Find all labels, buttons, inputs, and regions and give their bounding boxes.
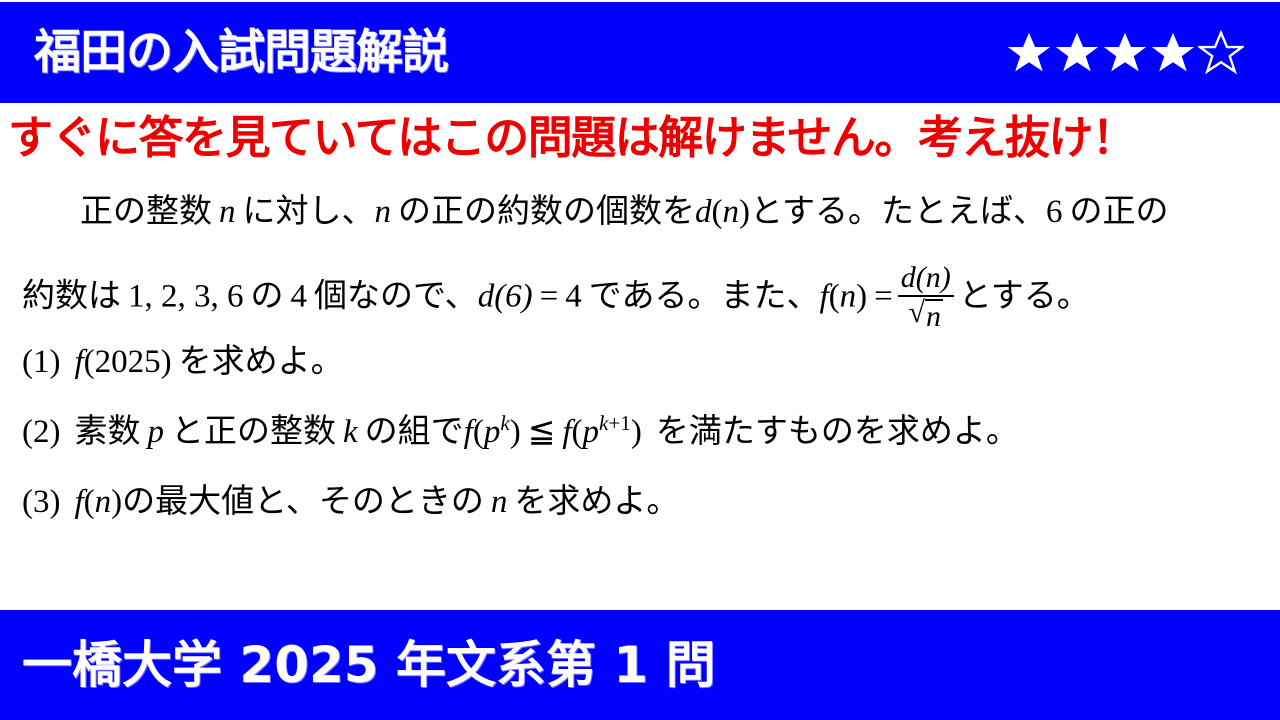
line1-seg-b: に対し、 [243,191,375,230]
line1-seg-a: 正の整数 [80,191,212,230]
q3-seg-a: の最大値と、そのときの [122,481,484,520]
line2-f-paren-close: ) [856,279,867,315]
question-2: (2)素数pと正の整数kの組でf(pk)≦f(pk+1)を満たすものを求めよ。 [22,414,1019,449]
q1-number: (1) [22,344,60,380]
line1-seg-d: とする。たとえば、 [750,191,1046,230]
footer-bar: 一橋大学 2025 年文系第 1 問 [0,610,1280,720]
star-filled-icon [1102,30,1148,76]
star-empty-icon [1198,30,1244,76]
line1-paren-close: ) [739,194,750,230]
q2-seg-c: の組で [365,411,464,450]
square-root: √n [909,298,943,333]
radicand: n [925,299,943,333]
question-3: (3)f(n)の最大値と、そのときのnを求めよ。 [22,484,679,519]
line1-paren-open: ( [712,194,723,230]
exam-source-title: 一橋大学 2025 年文系第 1 問 [22,640,716,690]
line1-var-n-second: n [375,194,392,230]
warning-band: すぐに答を見ていてはこの問題は解けません。考え抜け！ [0,106,1280,168]
q2-relation: ≦ [528,414,556,450]
line1-seg-e: の正の [1070,191,1169,230]
problem-statement: 正の整数nに対し、nの正の約数の個数をd(n)とする。たとえば、6の正の 約数は… [0,186,1280,606]
radical-sign: √ [909,298,925,333]
q2-rhs-exponent-plus: +1 [608,411,630,435]
q1-function-f: f [74,344,83,380]
line2-seg-d: である。また、 [589,276,820,315]
q1-argument: (2025) [84,344,172,380]
q2-number: (2) [22,414,60,450]
line2-number-4: 4 [291,279,308,315]
q3-paren-open: ( [84,484,95,520]
q2-lhs-exponent: k [500,411,509,435]
line1-arg-n: n [723,194,740,230]
q2-tail: を満たすものを求めよ。 [656,411,1019,450]
line1-number-6: 6 [1046,194,1063,230]
line2-seg-c: 個なので、 [314,276,478,315]
q2-rhs-paren-open: ( [572,414,583,450]
q3-paren-close: ) [111,484,122,520]
q3-tail: を求めよ。 [514,481,679,520]
q3-var-n: n [491,484,508,520]
star-filled-icon [1006,30,1052,76]
q2-seg-a: 素数 [74,411,140,450]
q2-var-p: p [147,414,164,450]
line1-var-n-first: n [219,194,236,230]
line2-equals-1: = [540,279,559,315]
q2-var-k: k [343,414,358,450]
fraction-d-over-sqrt-n: d(n)√n [898,262,954,332]
q3-arg: n [95,484,112,520]
warning-text: すぐに答を見ていてはこの問題は解けません。考え抜け！ [8,115,1135,160]
problem-line-2: 約数は1, 2, 3, 6の4個なので、d(6)=4である。また、f(n)=d(… [22,264,1090,334]
fraction-bar [898,295,954,297]
difficulty-rating [1006,30,1244,76]
line2-d6: d(6) [478,279,533,315]
line2-equals-2: = [874,279,893,315]
q2-rhs-exponent-var: k [599,411,608,435]
line2-function-f: f [819,279,828,315]
line2-value-4: 4 [565,279,582,315]
q2-lhs-paren-close: ) [510,414,521,450]
channel-title: 福田の入試問題解説 [34,29,448,76]
q2-rhs-paren-close: ) [631,414,642,450]
q2-rhs-exponent: k+1 [599,411,631,435]
q2-rhs-base: p [583,414,600,450]
q2-lhs-function-f: f [464,414,473,450]
fraction-denominator: √n [906,298,946,333]
q1-tail: を求めよ。 [179,341,344,380]
question-1: (1)f(2025)を求めよ。 [22,344,344,379]
q2-lhs-paren-open: ( [473,414,484,450]
q2-rhs-function-f: f [562,414,571,450]
line1-function-d: d [695,194,712,230]
star-filled-icon [1150,30,1196,76]
line2-seg-e: とする。 [959,276,1090,315]
header-bar: 福田の入試問題解説 [0,2,1280,103]
line2-f-paren-open: ( [829,279,840,315]
problem-line-1: 正の整数nに対し、nの正の約数の個数をd(n)とする。たとえば、6の正の [36,194,1169,229]
line2-divisor-list: 1, 2, 3, 6 [128,279,244,315]
fraction-numerator: d(n) [898,262,954,294]
q2-lhs-base: p [484,414,501,450]
line2-seg-b: の [251,276,284,315]
q2-seg-b: と正の整数 [171,411,336,450]
q3-number: (3) [22,484,60,520]
line1-seg-c: の正の約数の個数を [398,191,695,230]
q3-function-f: f [74,484,83,520]
line2-f-arg: n [840,279,857,315]
star-filled-icon [1054,30,1100,76]
line2-seg-a: 約数は [22,276,121,315]
